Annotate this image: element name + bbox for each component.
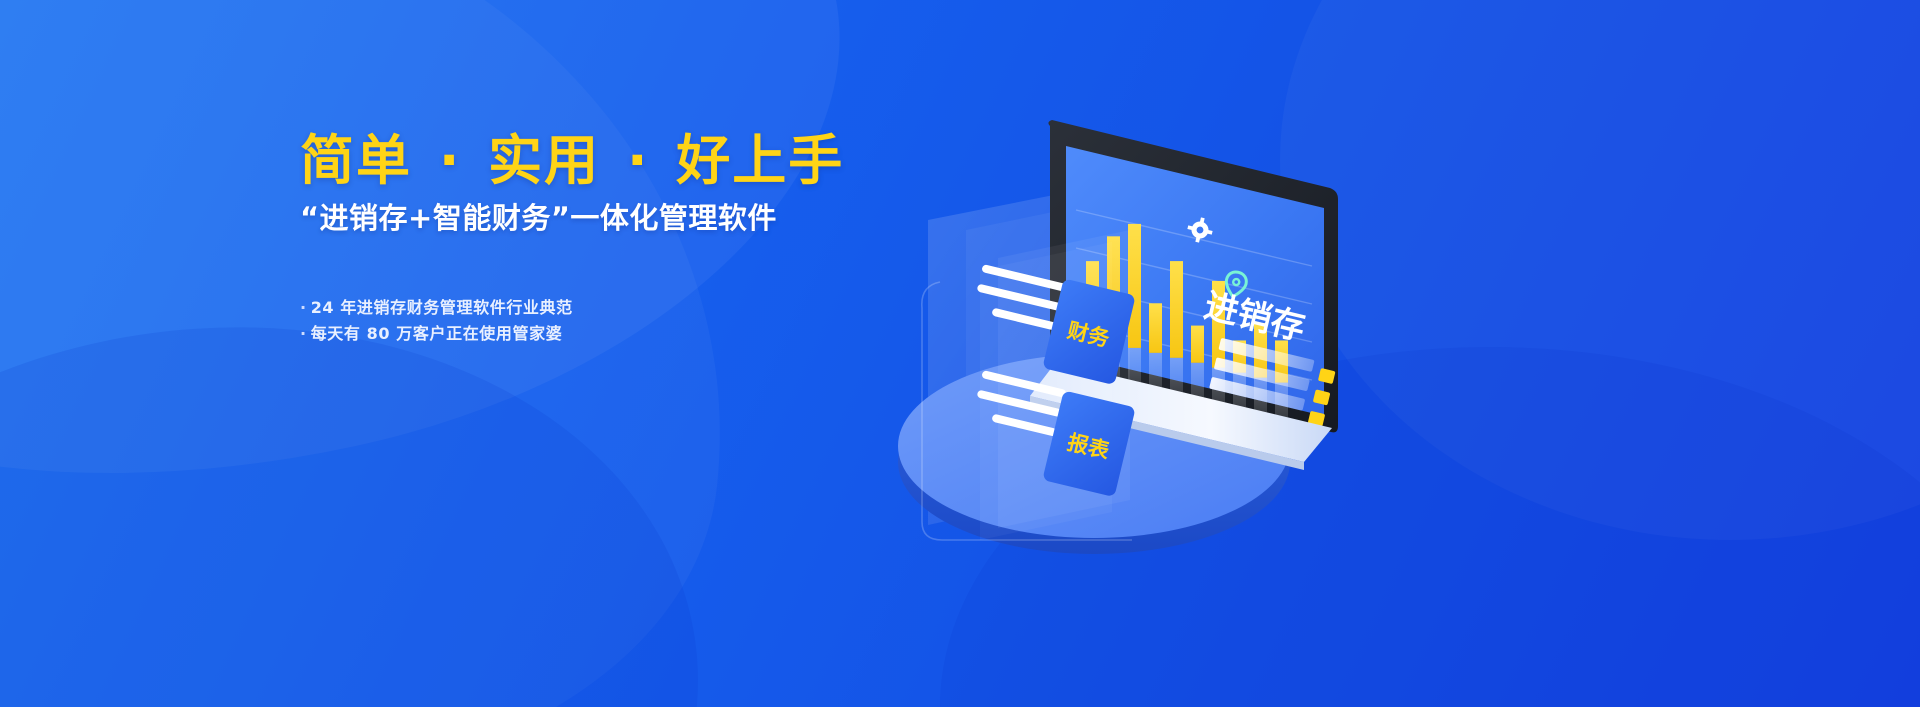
headline-part-2: 实用 [488,129,600,192]
banner-bullet-list: ·24 年进销存财务管理软件行业典范 ·每天有 80 万客户正在使用管家婆 [300,295,920,347]
background-swoosh-4 [1280,0,1920,540]
bullet-marker-icon: · [300,298,307,317]
bullet-text: 24 年进销存财务管理软件行业典范 [311,298,573,317]
banner-subheadline: “进销存+智能财务”一体化管理软件 [300,195,920,237]
isometric-laptop-illustration: 进销存 [880,70,1360,630]
background-swoosh-2 [0,0,774,707]
bullet-marker-icon: · [300,324,307,343]
list-item: ·24 年进销存财务管理软件行业典范 [300,295,920,321]
headline-part-1: 简单 [300,129,412,192]
headline-part-3: 好上手 [676,129,844,192]
banner-copy: 简单 · 实用 · 好上手 “进销存+智能财务”一体化管理软件 ·24 年进销存… [300,132,920,347]
headline-separator-1: · [433,129,468,192]
bullet-text: 每天有 80 万客户正在使用管家婆 [311,324,563,343]
banner-stage: 简单 · 实用 · 好上手 “进销存+智能财务”一体化管理软件 ·24 年进销存… [0,0,1920,707]
banner-headline: 简单 · 实用 · 好上手 [300,132,920,189]
list-item: ·每天有 80 万客户正在使用管家婆 [300,321,920,347]
headline-separator-2: · [621,129,656,192]
